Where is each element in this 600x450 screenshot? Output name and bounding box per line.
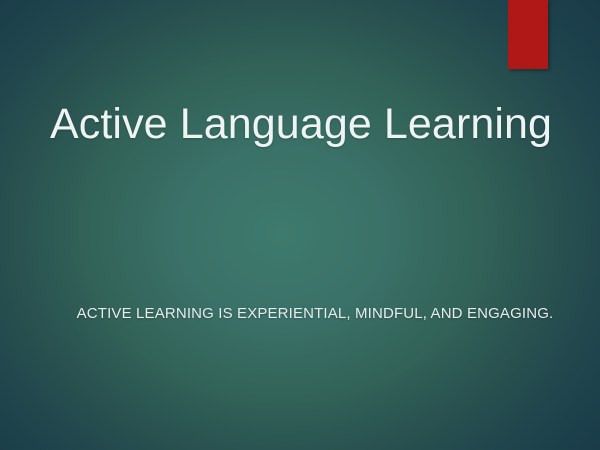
slide-subtitle[interactable]: ACTIVE LEARNING IS EXPERIENTIAL, MINDFUL… [30, 305, 600, 324]
slide-title[interactable]: Active Language Learning [50, 100, 550, 148]
red-accent-rectangle-icon [508, 0, 548, 69]
title-placeholder[interactable]: Active Language Learning [50, 100, 550, 148]
presentation-title-slide: Active Language Learning ACTIVE LEARNING… [0, 0, 600, 450]
subtitle-placeholder[interactable]: ACTIVE LEARNING IS EXPERIENTIAL, MINDFUL… [30, 305, 600, 324]
